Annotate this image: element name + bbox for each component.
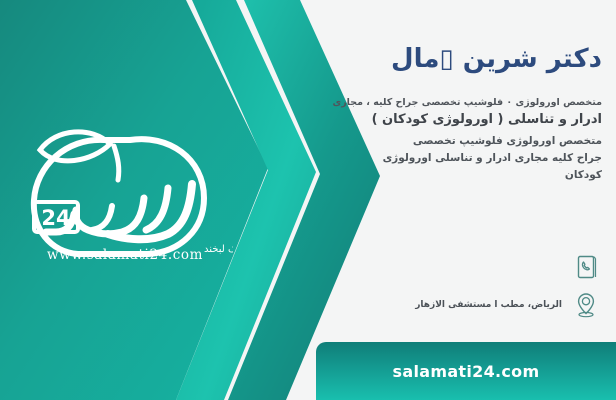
- specialty-line-5: کودکان: [310, 167, 602, 183]
- badge-24-number: 24: [41, 206, 70, 230]
- specialty-line-3: متخصص اورولوژی فلوشیپ تخصصی: [310, 133, 602, 149]
- business-card: 24 براحتی یک لبخند www.salamati24.com دک…: [0, 0, 616, 400]
- location-pin-icon: [566, 292, 606, 318]
- specialty-line-2: ادرار و تناسلی ( اورولوژی کودکان ): [310, 111, 602, 130]
- specialty-line-1: متخصص اورولوژی ٠ فلوشیپ تخصصی جراح کلیه …: [310, 96, 602, 110]
- specialty-line-4: جراح کلیه مجاری ادرار و تناسلی اورولوژی: [310, 150, 602, 166]
- info-column: دکتر شرین ▯مال متخصص اورولوژی ٠ فلوشیپ ت…: [306, 0, 616, 400]
- footer-bar[interactable]: salamati24.com: [316, 342, 616, 400]
- logo-mark: 24 براحتی یک لبخند: [18, 106, 233, 266]
- specialty-block: متخصص اورولوژی ٠ فلوشیپ تخصصی جراح کلیه …: [310, 96, 602, 184]
- contact-row-address[interactable]: الرياض، مطب ا مستشفى الازهار: [306, 286, 606, 324]
- contact-row-phone[interactable]: [306, 248, 606, 286]
- logo-script-ta: [92, 206, 112, 230]
- contact-address-text: الرياض، مطب ا مستشفى الازهار: [415, 300, 566, 310]
- brand-logo: 24 براحتی یک لبخند: [18, 106, 233, 266]
- footer-website: salamati24.com: [393, 362, 540, 381]
- contact-list: الرياض، مطب ا مستشفى الازهار: [306, 248, 606, 324]
- phonebook-icon: [566, 255, 606, 279]
- stem-icon: [114, 146, 119, 180]
- logo-website-url[interactable]: www.salamati24.com: [30, 247, 220, 263]
- doctor-name: دکتر شرین ▯مال: [312, 44, 602, 75]
- logo-script-lam: [146, 188, 168, 230]
